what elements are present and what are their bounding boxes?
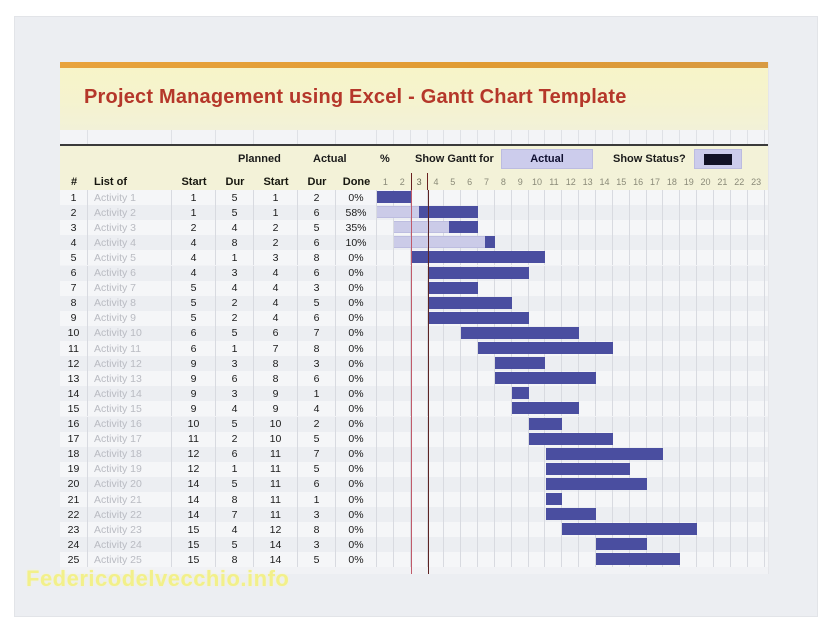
cell-pdur[interactable]: 4 <box>216 220 254 235</box>
gantt-cell[interactable] <box>731 326 748 341</box>
gantt-cell[interactable] <box>647 250 664 265</box>
gantt-cell[interactable] <box>411 462 428 477</box>
gantt-cell[interactable] <box>495 401 512 416</box>
gantt-cell[interactable] <box>411 371 428 386</box>
gantt-cell[interactable] <box>663 356 680 371</box>
gantt-cell[interactable] <box>546 552 563 567</box>
gantt-cell[interactable] <box>680 507 697 522</box>
gantt-cell[interactable] <box>394 552 411 567</box>
gantt-cell[interactable] <box>613 417 630 432</box>
table-row[interactable]: 5Activity 541380% <box>60 250 769 265</box>
cell-adur[interactable]: 5 <box>298 462 336 477</box>
gantt-cell[interactable] <box>495 537 512 552</box>
gantt-cell[interactable] <box>512 552 529 567</box>
gantt-cell[interactable] <box>731 311 748 326</box>
gantt-cell[interactable] <box>697 250 714 265</box>
cell-done[interactable]: 0% <box>336 492 377 507</box>
gantt-cell[interactable] <box>596 386 613 401</box>
gantt-cell[interactable] <box>596 507 613 522</box>
gantt-cell[interactable] <box>697 432 714 447</box>
gantt-cell[interactable] <box>394 507 411 522</box>
gantt-cell[interactable] <box>546 205 563 220</box>
cell-pdur[interactable]: 1 <box>216 462 254 477</box>
gantt-cell[interactable] <box>444 507 461 522</box>
table-row[interactable]: 22Activity 221471130% <box>60 507 769 522</box>
gantt-cell[interactable] <box>714 401 731 416</box>
gantt-cell[interactable] <box>680 386 697 401</box>
table-row[interactable]: 8Activity 852450% <box>60 296 769 311</box>
gantt-cell[interactable] <box>377 235 394 250</box>
gantt-cell[interactable] <box>731 356 748 371</box>
cell-astart[interactable]: 11 <box>254 447 298 462</box>
cell-pstart[interactable]: 14 <box>172 507 216 522</box>
gantt-cell[interactable] <box>714 220 731 235</box>
gantt-cell[interactable] <box>377 281 394 296</box>
cell-pstart[interactable]: 14 <box>172 477 216 492</box>
gantt-cell[interactable] <box>428 356 445 371</box>
table-row[interactable]: 7Activity 754430% <box>60 281 769 296</box>
gantt-cell[interactable] <box>579 492 596 507</box>
gantt-cell[interactable] <box>461 341 478 356</box>
gantt-cell[interactable] <box>613 250 630 265</box>
gantt-cell[interactable] <box>562 205 579 220</box>
gantt-cell[interactable] <box>444 462 461 477</box>
gantt-cell[interactable] <box>461 417 478 432</box>
gantt-cell[interactable] <box>478 462 495 477</box>
cell-adur[interactable]: 6 <box>298 205 336 220</box>
cell-num[interactable]: 3 <box>60 220 88 235</box>
gantt-cell[interactable] <box>714 326 731 341</box>
cell-done[interactable]: 58% <box>336 205 377 220</box>
gantt-cell[interactable] <box>680 356 697 371</box>
cell-name[interactable]: Activity 19 <box>88 462 172 477</box>
gantt-cell[interactable] <box>714 356 731 371</box>
gantt-cell[interactable] <box>731 552 748 567</box>
cell-pdur[interactable]: 1 <box>216 341 254 356</box>
cell-pdur[interactable]: 1 <box>216 250 254 265</box>
gantt-cell[interactable] <box>613 326 630 341</box>
cell-name[interactable]: Activity 7 <box>88 281 172 296</box>
gantt-cell[interactable] <box>697 417 714 432</box>
cell-name[interactable]: Activity 11 <box>88 341 172 356</box>
gantt-cell[interactable] <box>377 296 394 311</box>
cell-name[interactable]: Activity 20 <box>88 477 172 492</box>
gantt-cell[interactable] <box>663 205 680 220</box>
cell-astart[interactable]: 9 <box>254 386 298 401</box>
gantt-cell[interactable] <box>680 537 697 552</box>
gantt-cell[interactable] <box>663 250 680 265</box>
gantt-cell[interactable] <box>495 507 512 522</box>
cell-num[interactable]: 23 <box>60 522 88 537</box>
gantt-cell[interactable] <box>714 281 731 296</box>
cell-name[interactable]: Activity 12 <box>88 356 172 371</box>
gantt-cell[interactable] <box>731 250 748 265</box>
cell-name[interactable]: Activity 8 <box>88 296 172 311</box>
cell-done[interactable]: 0% <box>336 311 377 326</box>
gantt-cell[interactable] <box>529 447 546 462</box>
gantt-cell[interactable] <box>428 552 445 567</box>
gantt-cell[interactable] <box>377 401 394 416</box>
gantt-cell[interactable] <box>697 190 714 205</box>
gantt-cell[interactable] <box>495 417 512 432</box>
show-gantt-dropdown[interactable]: Actual <box>501 149 593 169</box>
gantt-cell[interactable] <box>394 477 411 492</box>
gantt-cell[interactable] <box>512 492 529 507</box>
gantt-cell[interactable] <box>647 220 664 235</box>
cell-num[interactable]: 9 <box>60 311 88 326</box>
table-row[interactable]: 17Activity 171121050% <box>60 432 769 447</box>
gantt-cell[interactable] <box>579 356 596 371</box>
gantt-cell[interactable] <box>512 522 529 537</box>
gantt-cell[interactable] <box>512 537 529 552</box>
gantt-cell[interactable] <box>630 326 647 341</box>
gantt-cell[interactable] <box>630 311 647 326</box>
gantt-cell[interactable] <box>647 492 664 507</box>
gantt-cell[interactable] <box>579 401 596 416</box>
gantt-cell[interactable] <box>663 311 680 326</box>
gantt-cell[interactable] <box>663 386 680 401</box>
gantt-cell[interactable] <box>613 296 630 311</box>
gantt-cell[interactable] <box>680 296 697 311</box>
gantt-cell[interactable] <box>630 462 647 477</box>
cell-num[interactable]: 2 <box>60 205 88 220</box>
gantt-cell[interactable] <box>697 462 714 477</box>
gantt-cell[interactable] <box>411 356 428 371</box>
cell-done[interactable]: 10% <box>336 235 377 250</box>
cell-adur[interactable]: 1 <box>298 492 336 507</box>
cell-pstart[interactable]: 4 <box>172 235 216 250</box>
gantt-cell[interactable] <box>478 552 495 567</box>
gantt-cell[interactable] <box>579 205 596 220</box>
gantt-cell[interactable] <box>731 537 748 552</box>
gantt-cell[interactable] <box>714 417 731 432</box>
table-row[interactable]: 11Activity 1161780% <box>60 341 769 356</box>
gantt-cell[interactable] <box>377 507 394 522</box>
gantt-cell[interactable] <box>680 220 697 235</box>
gantt-cell[interactable] <box>562 537 579 552</box>
gantt-cell[interactable] <box>394 266 411 281</box>
gantt-cell[interactable] <box>748 462 765 477</box>
cell-name[interactable]: Activity 2 <box>88 205 172 220</box>
cell-astart[interactable]: 14 <box>254 537 298 552</box>
cell-name[interactable]: Activity 9 <box>88 311 172 326</box>
gantt-cell[interactable] <box>630 250 647 265</box>
cell-done[interactable]: 0% <box>336 477 377 492</box>
cell-done[interactable]: 0% <box>336 432 377 447</box>
cell-pdur[interactable]: 5 <box>216 326 254 341</box>
cell-astart[interactable]: 8 <box>254 356 298 371</box>
table-row[interactable]: 24Activity 241551430% <box>60 537 769 552</box>
gantt-cell[interactable] <box>731 401 748 416</box>
cell-astart[interactable]: 11 <box>254 492 298 507</box>
cell-pstart[interactable]: 11 <box>172 432 216 447</box>
gantt-cell[interactable] <box>596 266 613 281</box>
cell-pdur[interactable]: 4 <box>216 281 254 296</box>
cell-astart[interactable]: 8 <box>254 371 298 386</box>
gantt-cell[interactable] <box>731 386 748 401</box>
gantt-cell[interactable] <box>596 250 613 265</box>
gantt-cell[interactable] <box>596 311 613 326</box>
cell-pstart[interactable]: 9 <box>172 386 216 401</box>
cell-astart[interactable]: 4 <box>254 281 298 296</box>
gantt-cell[interactable] <box>495 522 512 537</box>
gantt-cell[interactable] <box>428 522 445 537</box>
gantt-cell[interactable] <box>529 552 546 567</box>
gantt-cell[interactable] <box>562 552 579 567</box>
cell-pstart[interactable]: 2 <box>172 220 216 235</box>
gantt-cell[interactable] <box>613 190 630 205</box>
gantt-cell[interactable] <box>529 537 546 552</box>
gantt-cell[interactable] <box>411 432 428 447</box>
gantt-cell[interactable] <box>697 507 714 522</box>
gantt-cell[interactable] <box>478 371 495 386</box>
cell-name[interactable]: Activity 24 <box>88 537 172 552</box>
gantt-cell[interactable] <box>680 326 697 341</box>
gantt-cell[interactable] <box>697 220 714 235</box>
cell-astart[interactable]: 11 <box>254 507 298 522</box>
show-status-dropdown[interactable] <box>694 149 742 169</box>
gantt-cell[interactable] <box>394 522 411 537</box>
gantt-cell[interactable] <box>596 235 613 250</box>
gantt-cell[interactable] <box>714 477 731 492</box>
gantt-cell[interactable] <box>411 266 428 281</box>
cell-pdur[interactable]: 5 <box>216 537 254 552</box>
gantt-cell[interactable] <box>579 250 596 265</box>
cell-num[interactable]: 14 <box>60 386 88 401</box>
gantt-cell[interactable] <box>613 386 630 401</box>
gantt-cell[interactable] <box>512 281 529 296</box>
cell-pstart[interactable]: 1 <box>172 190 216 205</box>
gantt-cell[interactable] <box>428 537 445 552</box>
gantt-cell[interactable] <box>377 447 394 462</box>
gantt-cell[interactable] <box>546 266 563 281</box>
gantt-cell[interactable] <box>495 462 512 477</box>
cell-pdur[interactable]: 6 <box>216 447 254 462</box>
gantt-cell[interactable] <box>411 386 428 401</box>
cell-pdur[interactable]: 6 <box>216 371 254 386</box>
gantt-cell[interactable] <box>461 401 478 416</box>
cell-name[interactable]: Activity 13 <box>88 371 172 386</box>
table-row[interactable]: 14Activity 1493910% <box>60 386 769 401</box>
gantt-cell[interactable] <box>579 326 596 341</box>
gantt-cell[interactable] <box>680 417 697 432</box>
gantt-cell[interactable] <box>428 371 445 386</box>
cell-pdur[interactable]: 5 <box>216 417 254 432</box>
gantt-cell[interactable] <box>377 492 394 507</box>
gantt-cell[interactable] <box>647 356 664 371</box>
gantt-cell[interactable] <box>714 341 731 356</box>
gantt-cell[interactable] <box>630 281 647 296</box>
cell-pdur[interactable]: 7 <box>216 507 254 522</box>
cell-adur[interactable]: 8 <box>298 250 336 265</box>
gantt-cell[interactable] <box>478 220 495 235</box>
gantt-cell[interactable] <box>478 522 495 537</box>
gantt-cell[interactable] <box>579 220 596 235</box>
gantt-cell[interactable] <box>731 205 748 220</box>
gantt-cell[interactable] <box>394 311 411 326</box>
gantt-cell[interactable] <box>613 220 630 235</box>
gantt-cell[interactable] <box>647 462 664 477</box>
cell-num[interactable]: 11 <box>60 341 88 356</box>
gantt-cell[interactable] <box>394 326 411 341</box>
gantt-cell[interactable] <box>731 492 748 507</box>
gantt-cell[interactable] <box>394 417 411 432</box>
gantt-cell[interactable] <box>596 281 613 296</box>
gantt-cell[interactable] <box>731 296 748 311</box>
gantt-cell[interactable] <box>394 537 411 552</box>
cell-done[interactable]: 0% <box>336 281 377 296</box>
gantt-cell[interactable] <box>495 205 512 220</box>
gantt-cell[interactable] <box>748 341 765 356</box>
gantt-cell[interactable] <box>546 296 563 311</box>
gantt-cell[interactable] <box>748 371 765 386</box>
gantt-cell[interactable] <box>529 386 546 401</box>
table-row[interactable]: 23Activity 231541280% <box>60 522 769 537</box>
cell-pstart[interactable]: 1 <box>172 205 216 220</box>
cell-num[interactable]: 8 <box>60 296 88 311</box>
gantt-cell[interactable] <box>529 492 546 507</box>
gantt-cell[interactable] <box>377 371 394 386</box>
cell-name[interactable]: Activity 23 <box>88 522 172 537</box>
gantt-cell[interactable] <box>444 522 461 537</box>
gantt-cell[interactable] <box>411 311 428 326</box>
cell-pdur[interactable]: 3 <box>216 356 254 371</box>
cell-pstart[interactable]: 12 <box>172 447 216 462</box>
gantt-cell[interactable] <box>680 401 697 416</box>
gantt-cell[interactable] <box>714 492 731 507</box>
gantt-cell[interactable] <box>411 552 428 567</box>
gantt-cell[interactable] <box>663 281 680 296</box>
gantt-cell[interactable] <box>613 492 630 507</box>
cell-done[interactable]: 0% <box>336 417 377 432</box>
gantt-cell[interactable] <box>714 447 731 462</box>
gantt-cell[interactable] <box>697 296 714 311</box>
gantt-cell[interactable] <box>478 537 495 552</box>
gantt-cell[interactable] <box>697 401 714 416</box>
cell-num[interactable]: 24 <box>60 537 88 552</box>
gantt-cell[interactable] <box>411 477 428 492</box>
gantt-cell[interactable] <box>546 235 563 250</box>
gantt-cell[interactable] <box>663 432 680 447</box>
cell-name[interactable]: Activity 22 <box>88 507 172 522</box>
gantt-cell[interactable] <box>428 432 445 447</box>
gantt-cell[interactable] <box>444 386 461 401</box>
gantt-cell[interactable] <box>529 311 546 326</box>
gantt-cell[interactable] <box>411 281 428 296</box>
gantt-cell[interactable] <box>444 492 461 507</box>
gantt-cell[interactable] <box>529 522 546 537</box>
cell-pstart[interactable]: 15 <box>172 537 216 552</box>
cell-done[interactable]: 0% <box>336 371 377 386</box>
gantt-cell[interactable] <box>461 190 478 205</box>
gantt-cell[interactable] <box>495 492 512 507</box>
gantt-cell[interactable] <box>731 281 748 296</box>
gantt-cell[interactable] <box>647 281 664 296</box>
gantt-cell[interactable] <box>377 477 394 492</box>
gantt-cell[interactable] <box>613 281 630 296</box>
gantt-cell[interactable] <box>562 250 579 265</box>
cell-astart[interactable]: 2 <box>254 220 298 235</box>
gantt-cell[interactable] <box>748 205 765 220</box>
gantt-cell[interactable] <box>647 326 664 341</box>
gantt-cell[interactable] <box>714 552 731 567</box>
gantt-cell[interactable] <box>731 235 748 250</box>
gantt-cell[interactable] <box>714 311 731 326</box>
cell-astart[interactable]: 9 <box>254 401 298 416</box>
gantt-cell[interactable] <box>647 371 664 386</box>
gantt-cell[interactable] <box>663 537 680 552</box>
gantt-cell[interactable] <box>377 417 394 432</box>
cell-adur[interactable]: 3 <box>298 281 336 296</box>
gantt-cell[interactable] <box>630 296 647 311</box>
gantt-cell[interactable] <box>428 417 445 432</box>
gantt-cell[interactable] <box>411 522 428 537</box>
table-row[interactable]: 6Activity 643460% <box>60 266 769 281</box>
gantt-cell[interactable] <box>546 220 563 235</box>
gantt-cell[interactable] <box>663 492 680 507</box>
gantt-cell[interactable] <box>529 220 546 235</box>
gantt-cell[interactable] <box>512 447 529 462</box>
gantt-cell[interactable] <box>495 190 512 205</box>
gantt-cell[interactable] <box>377 326 394 341</box>
table-row[interactable]: 9Activity 952460% <box>60 311 769 326</box>
gantt-cell[interactable] <box>512 432 529 447</box>
gantt-cell[interactable] <box>394 341 411 356</box>
gantt-cell[interactable] <box>529 205 546 220</box>
cell-pstart[interactable]: 4 <box>172 250 216 265</box>
gantt-cell[interactable] <box>444 537 461 552</box>
gantt-cell[interactable] <box>394 447 411 462</box>
gantt-cell[interactable] <box>731 266 748 281</box>
gantt-cell[interactable] <box>697 492 714 507</box>
cell-pdur[interactable]: 8 <box>216 492 254 507</box>
gantt-cell[interactable] <box>697 386 714 401</box>
table-row[interactable]: 2Activity 2151658% <box>60 205 769 220</box>
gantt-cell[interactable] <box>630 235 647 250</box>
cell-done[interactable]: 0% <box>336 507 377 522</box>
gantt-cell[interactable] <box>663 326 680 341</box>
cell-adur[interactable]: 6 <box>298 477 336 492</box>
cell-num[interactable]: 15 <box>60 401 88 416</box>
gantt-cell[interactable] <box>663 447 680 462</box>
cell-adur[interactable]: 6 <box>298 311 336 326</box>
cell-done[interactable]: 0% <box>336 296 377 311</box>
gantt-cell[interactable] <box>748 356 765 371</box>
cell-adur[interactable]: 1 <box>298 386 336 401</box>
gantt-cell[interactable] <box>630 205 647 220</box>
gantt-cell[interactable] <box>714 296 731 311</box>
gantt-cell[interactable] <box>596 205 613 220</box>
gantt-cell[interactable] <box>394 386 411 401</box>
gantt-cell[interactable] <box>411 341 428 356</box>
gantt-cell[interactable] <box>461 507 478 522</box>
cell-pstart[interactable]: 5 <box>172 281 216 296</box>
gantt-cell[interactable] <box>731 190 748 205</box>
cell-adur[interactable]: 5 <box>298 432 336 447</box>
cell-done[interactable]: 0% <box>336 537 377 552</box>
gantt-cell[interactable] <box>495 220 512 235</box>
cell-pdur[interactable]: 4 <box>216 401 254 416</box>
gantt-cell[interactable] <box>377 250 394 265</box>
gantt-cell[interactable] <box>748 266 765 281</box>
gantt-cell[interactable] <box>495 477 512 492</box>
gantt-cell[interactable] <box>444 432 461 447</box>
gantt-cell[interactable] <box>714 522 731 537</box>
gantt-cell[interactable] <box>512 477 529 492</box>
cell-done[interactable]: 0% <box>336 341 377 356</box>
gantt-cell[interactable] <box>461 356 478 371</box>
cell-pstart[interactable]: 4 <box>172 266 216 281</box>
